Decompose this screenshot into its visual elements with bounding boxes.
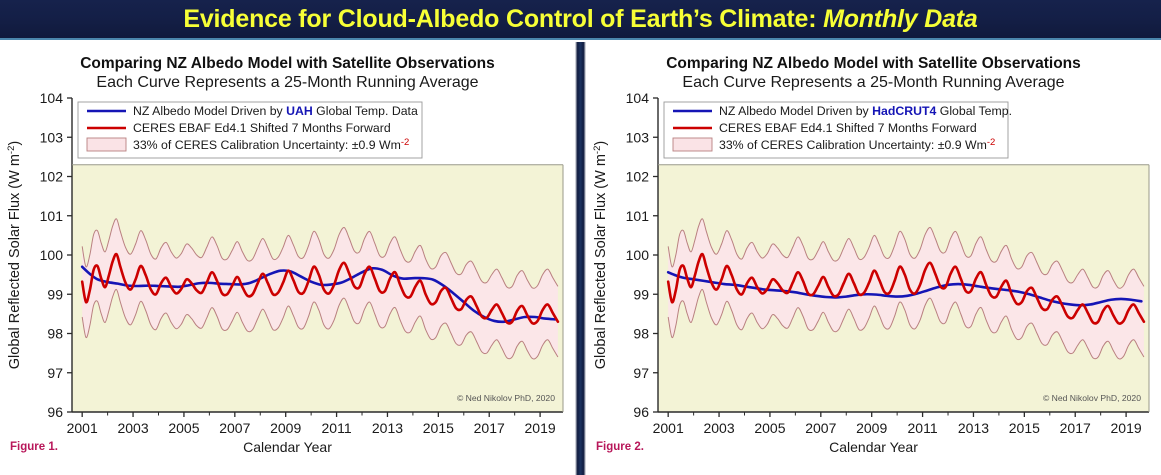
- credit-text: © Ned Nikolov PhD, 2020: [457, 393, 555, 403]
- y-tick-label: 98: [633, 326, 649, 342]
- chart-figure-left: 9697989910010110210310420012003200520072…: [0, 92, 575, 459]
- x-tick-label: 2013: [372, 420, 403, 436]
- legend-entry[interactable]: NZ Albedo Model Driven by HadCRUT4 Globa…: [673, 104, 1012, 118]
- legend-label-pre: 33% of CERES Calibration Uncertainty: ±0…: [719, 138, 987, 152]
- chart-title-line1: Comparing NZ Albedo Model with Satellite…: [586, 54, 1161, 73]
- legend-entry[interactable]: 33% of CERES Calibration Uncertainty: ±0…: [87, 137, 409, 152]
- credit-text: © Ned Nikolov PhD, 2020: [1043, 393, 1141, 403]
- y-tick-label: 96: [47, 404, 63, 420]
- legend-label-bold: UAH: [286, 104, 313, 118]
- chart-panel-right: Comparing NZ Albedo Model with Satellite…: [586, 42, 1161, 475]
- y-tick-label: 104: [626, 92, 650, 106]
- y-tick-label: 98: [47, 326, 63, 342]
- legend-label-post: Global Temp. Data: [313, 104, 418, 118]
- legend-label-sup: -2: [987, 137, 995, 148]
- x-tick-label: 2001: [67, 420, 98, 436]
- x-tick-label: 2009: [270, 420, 301, 436]
- x-tick-label: 2009: [856, 420, 887, 436]
- x-tick-label: 2019: [1111, 420, 1142, 436]
- y-axis-title-text: Global Reflected Solar Flux (W m-2): [6, 141, 23, 369]
- legend-label: NZ Albedo Model Driven by HadCRUT4 Globa…: [719, 104, 1012, 118]
- legend-label-pre: CERES EBAF Ed4.1 Shifted 7 Months Forwar…: [719, 121, 977, 135]
- y-tick-label: 102: [626, 169, 650, 185]
- x-tick-label: 2011: [322, 420, 352, 436]
- y-tick-label: 99: [47, 286, 63, 302]
- legend-label: 33% of CERES Calibration Uncertainty: ±0…: [719, 137, 995, 152]
- page-title-main: Evidence for Cloud-Albedo Control of Ear…: [183, 5, 823, 33]
- x-tick-label: 2017: [1060, 420, 1091, 436]
- x-tick-label: 2001: [653, 420, 684, 436]
- y-axis-title-tail: ): [593, 141, 609, 146]
- legend-label-pre: NZ Albedo Model Driven by: [133, 104, 286, 118]
- y-tick-label: 101: [40, 208, 64, 224]
- y-tick-label: 97: [47, 365, 63, 381]
- y-tick-label: 96: [633, 404, 649, 420]
- y-axis-title-sup: -2: [592, 146, 603, 154]
- legend-label-post: Global Temp.: [936, 104, 1012, 118]
- x-tick-label: 2011: [908, 420, 938, 436]
- legend-label: CERES EBAF Ed4.1 Shifted 7 Months Forwar…: [719, 121, 977, 135]
- x-tick-label: 2003: [117, 420, 148, 436]
- legend-label-pre: CERES EBAF Ed4.1 Shifted 7 Months Forwar…: [133, 121, 391, 135]
- y-tick-label: 102: [40, 169, 64, 185]
- legend-label-pre: 33% of CERES Calibration Uncertainty: ±0…: [133, 138, 401, 152]
- x-tick-label: 2017: [474, 420, 505, 436]
- y-axis-title: Global Reflected Solar Flux (W m-2): [6, 141, 23, 369]
- legend-entry[interactable]: 33% of CERES Calibration Uncertainty: ±0…: [673, 137, 995, 152]
- legend-entry[interactable]: CERES EBAF Ed4.1 Shifted 7 Months Forwar…: [673, 121, 977, 135]
- x-tick-label: 2015: [1009, 420, 1040, 436]
- legend-label-sup: -2: [401, 137, 409, 148]
- x-tick-label: 2013: [958, 420, 989, 436]
- legend-label-bold: HadCRUT4: [872, 104, 936, 118]
- y-axis-title-tail: ): [7, 141, 23, 146]
- legend-label: 33% of CERES Calibration Uncertainty: ±0…: [133, 137, 409, 152]
- x-tick-label: 2003: [703, 420, 734, 436]
- x-tick-label: 2019: [525, 420, 556, 436]
- y-tick-label: 101: [626, 208, 650, 224]
- xaxis-title-right: Calendar Year: [586, 439, 1161, 455]
- y-tick-label: 104: [40, 92, 64, 106]
- chart-figure-right: 9697989910010110210310420012003200520072…: [586, 92, 1161, 459]
- chart-svg-left: 9697989910010110210310420012003200520072…: [0, 92, 575, 454]
- y-tick-label: 100: [40, 247, 64, 263]
- x-tick-label: 2007: [805, 420, 836, 436]
- y-axis-title-sup: -2: [6, 146, 17, 154]
- panel-divider: [575, 42, 586, 475]
- chart-svg-right: 9697989910010110210310420012003200520072…: [586, 92, 1161, 454]
- chart-title-right: Comparing NZ Albedo Model with Satellite…: [586, 54, 1161, 93]
- legend-label: NZ Albedo Model Driven by UAH Global Tem…: [133, 104, 418, 118]
- chart-panel-left: Comparing NZ Albedo Model with Satellite…: [0, 42, 575, 475]
- legend-right: NZ Albedo Model Driven by HadCRUT4 Globa…: [664, 102, 1012, 158]
- chart-title-line2: Each Curve Represents a 25-Month Running…: [0, 73, 575, 93]
- chart-title-line2: Each Curve Represents a 25-Month Running…: [586, 73, 1161, 93]
- legend-label: CERES EBAF Ed4.1 Shifted 7 Months Forwar…: [133, 121, 391, 135]
- legend-label-pre: NZ Albedo Model Driven by: [719, 104, 872, 118]
- legend-entry[interactable]: CERES EBAF Ed4.1 Shifted 7 Months Forwar…: [87, 121, 391, 135]
- x-tick-label: 2005: [168, 420, 199, 436]
- legend-left: NZ Albedo Model Driven by UAH Global Tem…: [78, 102, 422, 158]
- x-tick-label: 2007: [219, 420, 250, 436]
- y-tick-label: 103: [626, 129, 650, 145]
- page-title-emphasis: Monthly Data: [823, 5, 978, 33]
- legend-patch-swatch: [87, 138, 126, 151]
- slide-title-bar: Evidence for Cloud-Albedo Control of Ear…: [0, 0, 1161, 40]
- y-axis-title-main: Global Reflected Solar Flux (W m: [7, 154, 23, 369]
- x-tick-label: 2005: [754, 420, 785, 436]
- y-tick-label: 97: [633, 365, 649, 381]
- xaxis-title-left: Calendar Year: [0, 439, 575, 455]
- y-tick-label: 103: [40, 129, 64, 145]
- y-axis-title-text: Global Reflected Solar Flux (W m-2): [592, 141, 609, 369]
- x-tick-label: 2015: [423, 420, 454, 436]
- chart-title-left: Comparing NZ Albedo Model with Satellite…: [0, 54, 575, 93]
- legend-patch-swatch: [673, 138, 712, 151]
- y-tick-label: 100: [626, 247, 650, 263]
- page-title: Evidence for Cloud-Albedo Control of Ear…: [183, 5, 977, 34]
- y-axis-title: Global Reflected Solar Flux (W m-2): [592, 141, 609, 369]
- y-tick-label: 99: [633, 286, 649, 302]
- chart-title-line1: Comparing NZ Albedo Model with Satellite…: [0, 54, 575, 73]
- legend-entry[interactable]: NZ Albedo Model Driven by UAH Global Tem…: [87, 104, 418, 118]
- y-axis-title-main: Global Reflected Solar Flux (W m: [593, 154, 609, 369]
